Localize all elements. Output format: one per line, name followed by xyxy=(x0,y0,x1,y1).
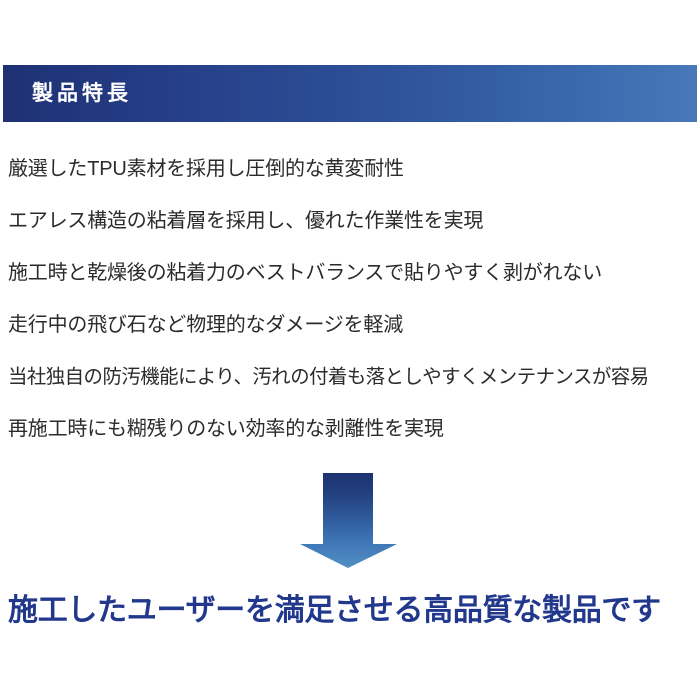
feature-line: 当社独自の防汚機能により、汚れの付着も落としやすくメンテナンスが容易 xyxy=(0,348,700,400)
feature-line: 厳選したTPU素材を採用し圧倒的な黄変耐性 xyxy=(0,140,700,192)
feature-list: 厳選したTPU素材を採用し圧倒的な黄変耐性 エアレス構造の粘着層を採用し、優れた… xyxy=(0,140,700,452)
feature-line: 施工時と乾燥後の粘着力のベストバランスで貼りやすく剥がれない xyxy=(0,244,700,296)
feature-line: エアレス構造の粘着層を採用し、優れた作業性を実現 xyxy=(0,192,700,244)
page-title: 製品特長 xyxy=(32,83,132,104)
conclusion-headline: 施工したユーザーを満足させる高品質な製品です xyxy=(8,585,700,629)
section-header-band: 製品特長 xyxy=(3,65,697,122)
feature-line: 再施工時にも糊残りのない効率的な剥離性を実現 xyxy=(0,400,700,452)
product-features-page: 製品特長 厳選したTPU素材を採用し圧倒的な黄変耐性 エアレス構造の粘着層を採用… xyxy=(0,0,700,700)
feature-line: 走行中の飛び石など物理的なダメージを軽減 xyxy=(0,296,700,348)
arrow-down-icon xyxy=(299,472,398,569)
